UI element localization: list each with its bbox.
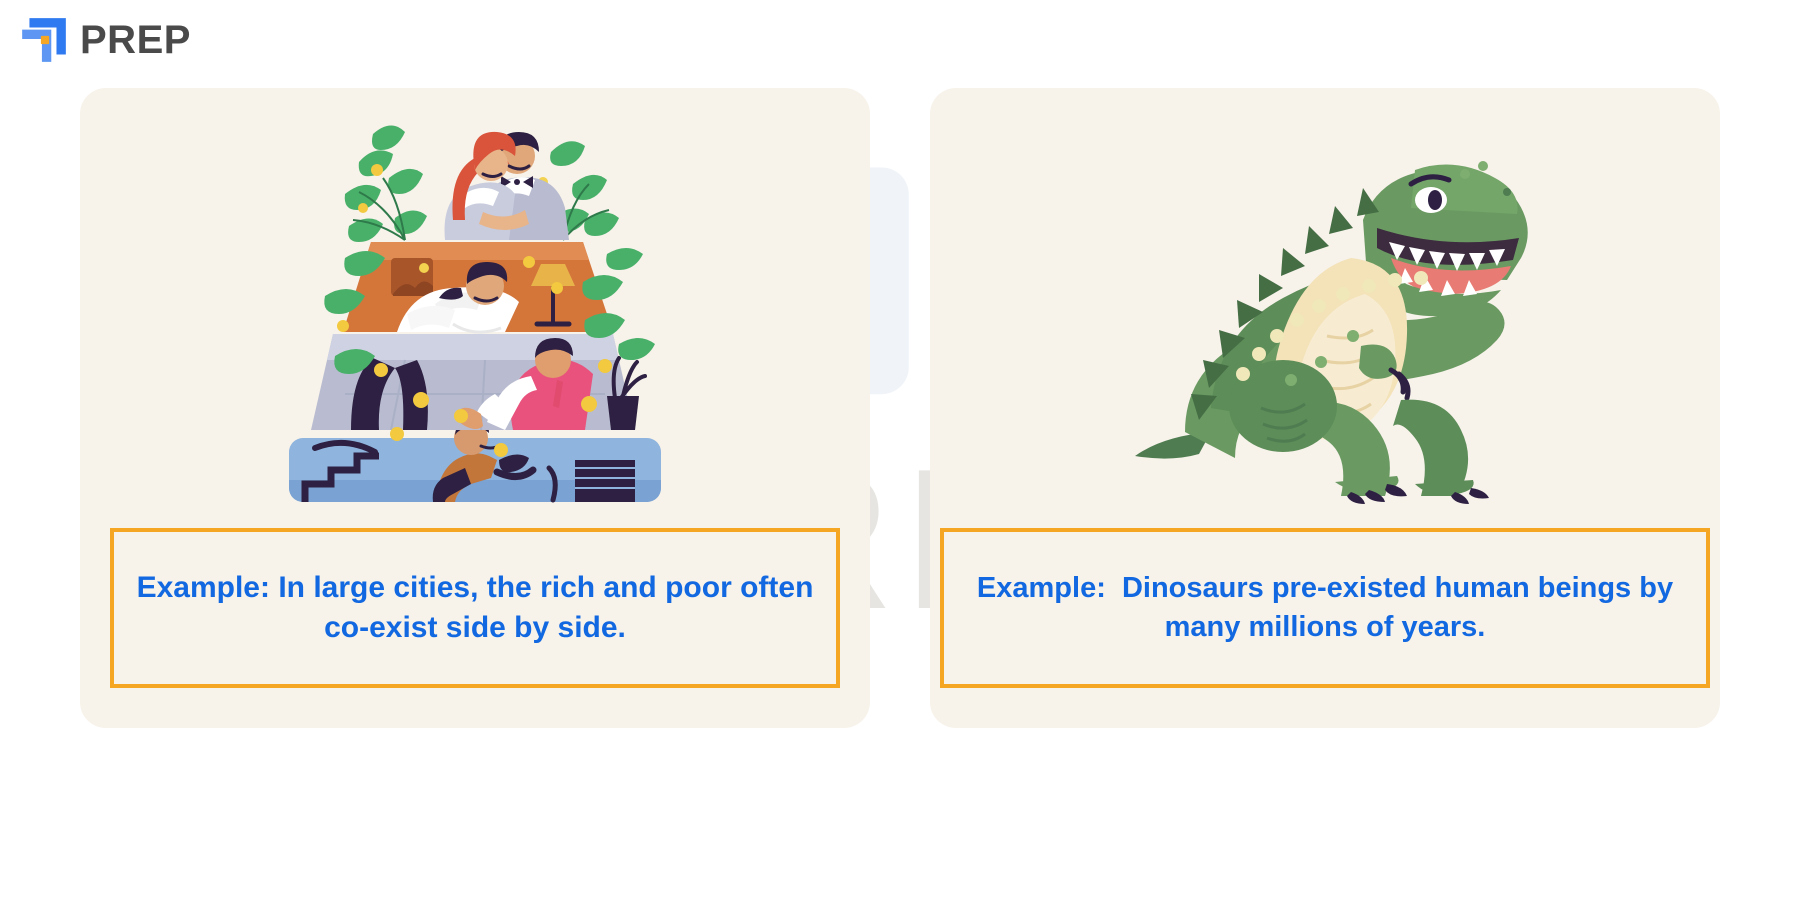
brand-wordmark: PREP: [80, 20, 191, 60]
rich-and-poor-pyramid-illustration: [80, 108, 870, 508]
cards-container: Example: In large cities, the rich and p…: [0, 0, 1800, 900]
tyrannosaurus-rex-illustration: [930, 108, 1720, 508]
example-text-dinosaur: Example: Dinosaurs pre-existed human bei…: [962, 569, 1688, 647]
example-box-left: Example: In large cities, the rich and p…: [110, 528, 840, 688]
prep-square-logo-icon: [18, 14, 70, 66]
example-text-rich-poor: Example: In large cities, the rich and p…: [132, 568, 818, 649]
card-rich-poor: Example: In large cities, the rich and p…: [80, 88, 870, 728]
card-dinosaur: Example: Dinosaurs pre-existed human bei…: [930, 88, 1720, 728]
brand-logo[interactable]: PREP: [18, 14, 191, 66]
example-box-right: Example: Dinosaurs pre-existed human bei…: [940, 528, 1710, 688]
